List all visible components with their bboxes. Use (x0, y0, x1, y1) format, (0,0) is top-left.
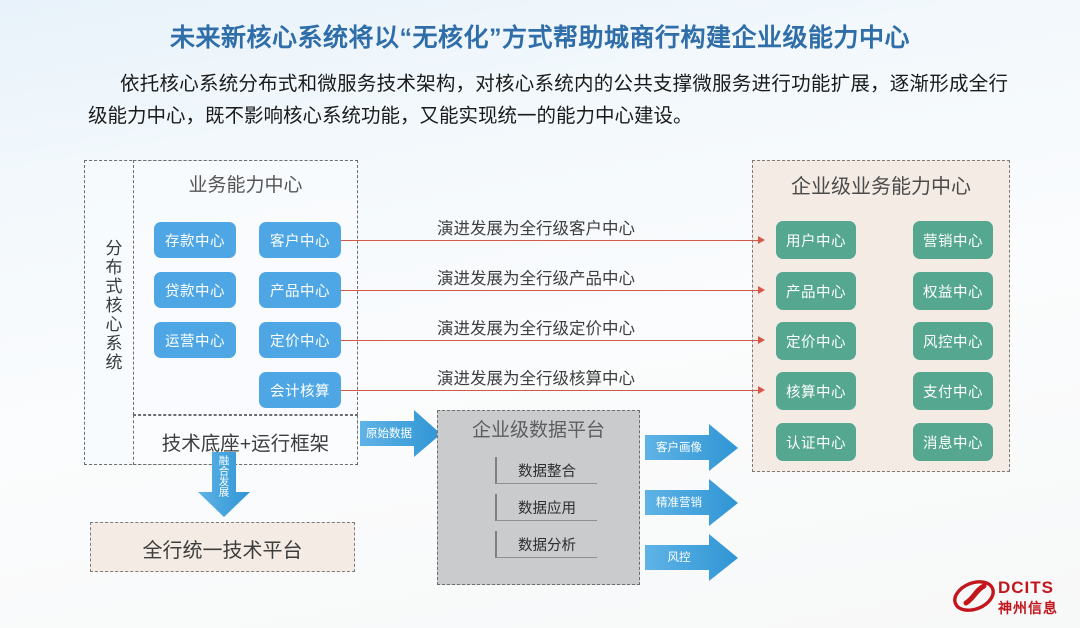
pill-message-center[interactable]: 消息中心 (913, 423, 993, 461)
enterprise-data-platform-title: 企业级数据平台 (437, 415, 640, 442)
pill-customer-center[interactable]: 客户中心 (259, 222, 341, 258)
customer-profile-arrow-label: 客户画像 (648, 438, 710, 456)
pill-ent-accounting-center[interactable]: 核算中心 (776, 372, 856, 410)
evolution-label-product: 演进发展为全行级产品中心 (437, 265, 635, 289)
risk-control-arrow-label: 风控 (648, 548, 710, 566)
pill-user-center[interactable]: 用户中心 (776, 221, 856, 259)
evolution-arrowhead-product (758, 286, 765, 294)
pill-payment-center[interactable]: 支付中心 (913, 372, 993, 410)
pill-marketing-center[interactable]: 营销中心 (913, 221, 993, 259)
pill-auth-center[interactable]: 认证中心 (776, 423, 856, 461)
pill-product-center[interactable]: 产品中心 (259, 272, 341, 308)
unified-tech-platform-title: 全行统一技术平台 (90, 534, 355, 563)
distributed-core-system-label: 分布式核心系统 (92, 205, 132, 405)
pill-accounting-center[interactable]: 会计核算 (259, 372, 341, 408)
evolution-line-pricing (341, 340, 759, 341)
pill-risk-center[interactable]: 风控中心 (913, 322, 993, 360)
evolution-label-customer: 演进发展为全行级客户中心 (437, 215, 635, 239)
evolution-line-product (341, 290, 759, 291)
pill-pricing-center[interactable]: 定价中心 (259, 322, 341, 358)
dcits-logo: DCITS 神州信息 (952, 576, 1072, 622)
page-title: 未来新核心系统将以“无核化”方式帮助城商行构建企业级能力中心 (0, 18, 1080, 54)
pill-operation-center[interactable]: 运营中心 (154, 322, 236, 358)
data-row-analysis[interactable]: 数据分析 (495, 531, 597, 558)
dcits-logo-en: DCITS (998, 578, 1054, 598)
evolution-label-accounting: 演进发展为全行级核算中心 (437, 365, 635, 389)
business-capability-center-title: 业务能力中心 (133, 170, 358, 197)
raw-data-arrow-label: 原始数据 (362, 424, 416, 442)
pill-ent-product-center[interactable]: 产品中心 (776, 272, 856, 310)
evolution-arrowhead-accounting (758, 386, 765, 394)
merge-development-arrow-label: 融合发展 (200, 455, 248, 497)
enterprise-capability-center-title: 企业级业务能力中心 (752, 170, 1010, 199)
dcits-logo-cn: 神州信息 (998, 598, 1058, 618)
dcits-mark-icon (952, 576, 996, 616)
pill-loan-center[interactable]: 贷款中心 (154, 272, 236, 308)
evolution-arrowhead-customer (758, 236, 765, 244)
data-row-integration[interactable]: 数据整合 (495, 457, 597, 484)
page-subtitle: 依托核心系统分布式和微服务技术架构，对核心系统内的公共支撑微服务进行功能扩展，逐… (88, 68, 1008, 132)
pill-rights-center[interactable]: 权益中心 (913, 272, 993, 310)
evolution-label-pricing: 演进发展为全行级定价中心 (437, 315, 635, 339)
precision-marketing-arrow-label: 精准营销 (648, 493, 710, 511)
pill-ent-pricing-center[interactable]: 定价中心 (776, 322, 856, 360)
pill-deposit-center[interactable]: 存款中心 (154, 222, 236, 258)
data-row-application[interactable]: 数据应用 (495, 494, 597, 521)
evolution-arrowhead-pricing (758, 336, 765, 344)
evolution-line-accounting (341, 390, 759, 391)
evolution-line-customer (341, 240, 759, 241)
slide-canvas: 未来新核心系统将以“无核化”方式帮助城商行构建企业级能力中心 依托核心系统分布式… (0, 0, 1080, 628)
